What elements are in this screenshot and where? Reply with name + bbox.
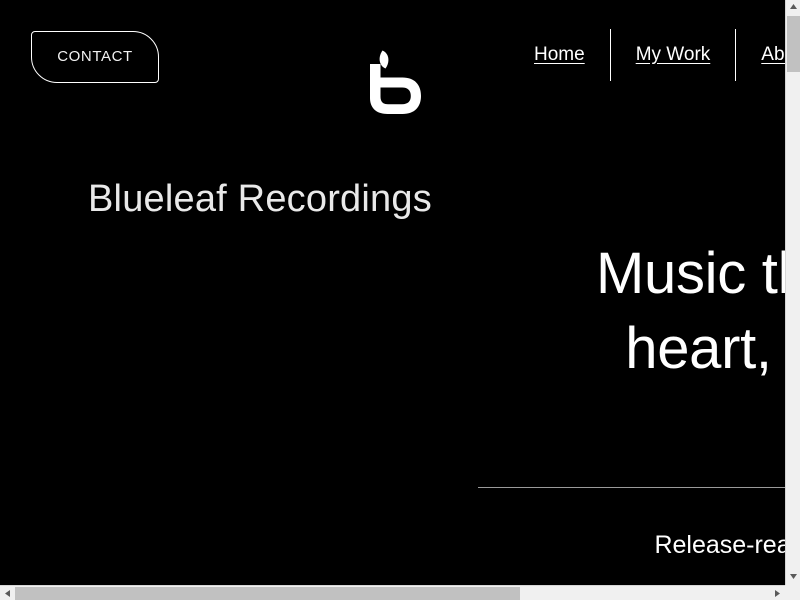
brand-title: Blueleaf Recordings <box>88 178 432 221</box>
hero-section: Music that moves the heart, delivered wi… <box>478 236 800 564</box>
scrollbar-corner <box>785 585 800 600</box>
blueleaf-b-logo-icon[interactable] <box>362 48 426 116</box>
nav-link-home[interactable]: Home <box>509 28 610 82</box>
main-navigation: Home My Work About <box>509 28 800 82</box>
scroll-down-arrow-icon[interactable] <box>786 570 800 585</box>
vertical-scrollbar-thumb[interactable] <box>787 16 800 72</box>
scroll-up-arrow-icon[interactable] <box>786 0 800 15</box>
browser-viewport: CONTACT Home My Work About Blueleaf Reco… <box>0 0 800 600</box>
horizontal-scrollbar[interactable] <box>0 585 785 600</box>
hero-heading: Music that moves the heart, delivered wi… <box>478 236 800 461</box>
page-canvas: CONTACT Home My Work About Blueleaf Reco… <box>0 0 800 600</box>
contact-button[interactable]: CONTACT <box>31 31 159 83</box>
site-header: CONTACT Home My Work About <box>0 0 800 118</box>
scroll-right-arrow-icon[interactable] <box>770 586 785 600</box>
horizontal-scrollbar-thumb[interactable] <box>15 587 520 600</box>
nav-link-my-work[interactable]: My Work <box>611 28 736 82</box>
vertical-scrollbar[interactable] <box>785 0 800 585</box>
hero-subtext: Release-ready recordings crafted with ca… <box>478 526 800 564</box>
hero-divider <box>478 487 800 488</box>
scroll-left-arrow-icon[interactable] <box>0 586 15 600</box>
